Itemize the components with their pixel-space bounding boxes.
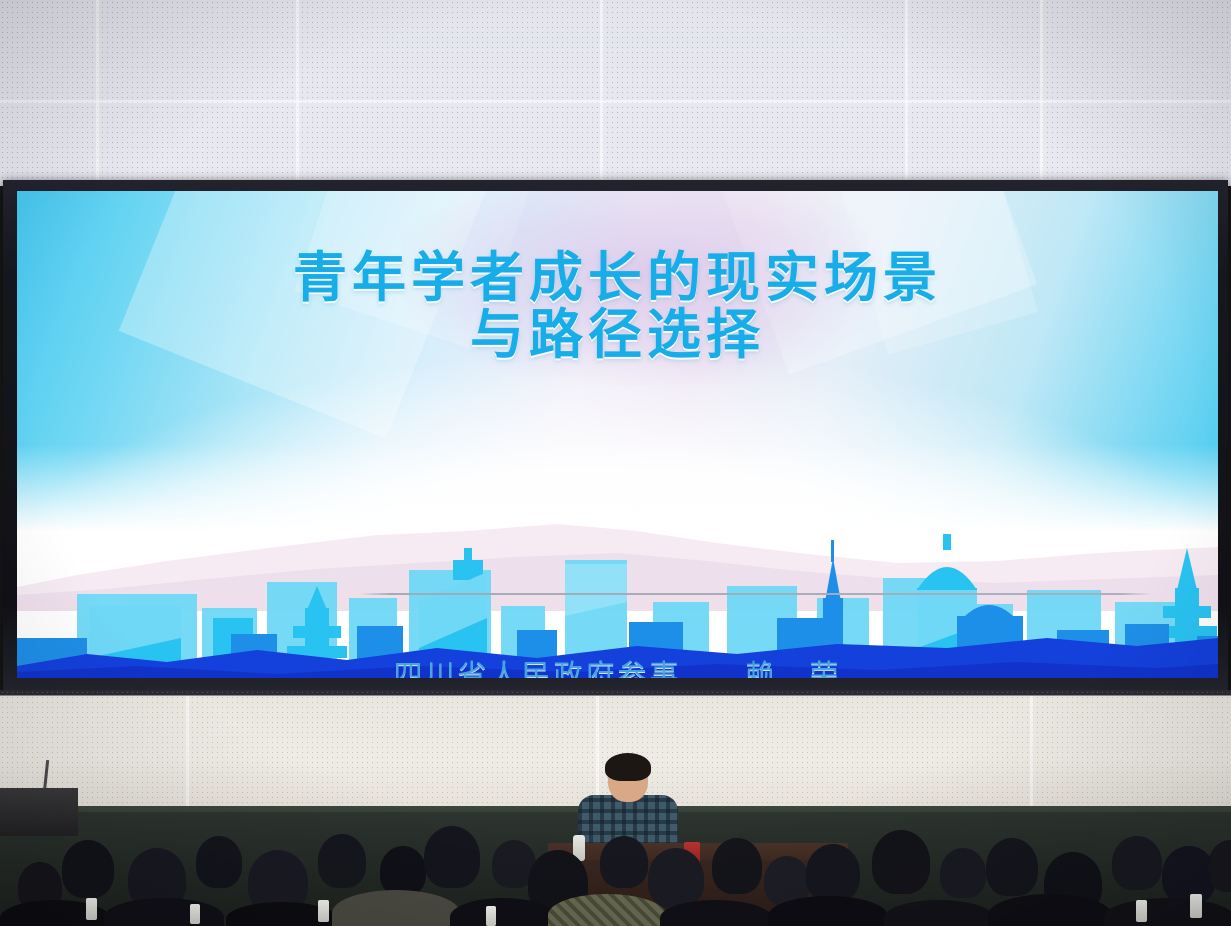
audience-head [424, 826, 480, 888]
upper-acoustic-wall [0, 0, 1231, 186]
panel-seam [1040, 0, 1043, 186]
audience-head [196, 836, 242, 888]
water-bottle [318, 900, 329, 922]
panel-seam [0, 100, 1231, 103]
led-screen-content: 青年学者成长的现实场景 与路径选择 四川省人民政府参事 赖 荣 [17, 191, 1218, 678]
lecture-hall-photo: 青年学者成长的现实场景 与路径选择 四川省人民政府参事 赖 荣 [0, 0, 1231, 926]
water-bottle [86, 898, 97, 920]
audience-head [986, 838, 1038, 896]
slide-title-block: 青年学者成长的现实场景 与路径选择 [17, 249, 1218, 363]
lectern [0, 788, 78, 836]
title-divider-rule [359, 593, 1152, 595]
panel-seam [96, 0, 99, 186]
panel-seam [600, 0, 603, 186]
led-screen-bezel: 青年学者成长的现实场景 与路径选择 四川省人民政府参事 赖 荣 [3, 180, 1228, 695]
audience-head [318, 834, 366, 888]
audience-head [62, 840, 114, 898]
water-bottle [1190, 894, 1202, 918]
panel-seam [1030, 696, 1033, 815]
water-bottle [190, 904, 200, 924]
audience-head [712, 838, 762, 894]
audience-head [940, 848, 986, 898]
panel-seam [905, 0, 908, 186]
water-bottle [486, 906, 496, 926]
audience-head [872, 830, 930, 894]
slide-subtitle: 四川省人民政府参事 赖 荣 [17, 652, 1218, 678]
panel-seam [186, 696, 189, 815]
audience-head [806, 844, 860, 902]
panel-seam [296, 0, 299, 186]
water-bottle [1136, 900, 1147, 922]
perforation-texture [0, 0, 1231, 186]
audience-head [648, 848, 704, 908]
audience-head [380, 846, 426, 896]
audience-head [1112, 836, 1162, 890]
slide-title-line-1: 青年学者成长的现实场景 [17, 249, 1218, 306]
audience-head [600, 836, 648, 888]
city-skyline-illustration [17, 498, 1218, 678]
slide-title-line-2: 与路径选择 [17, 306, 1218, 363]
speaker-hair [605, 753, 651, 781]
